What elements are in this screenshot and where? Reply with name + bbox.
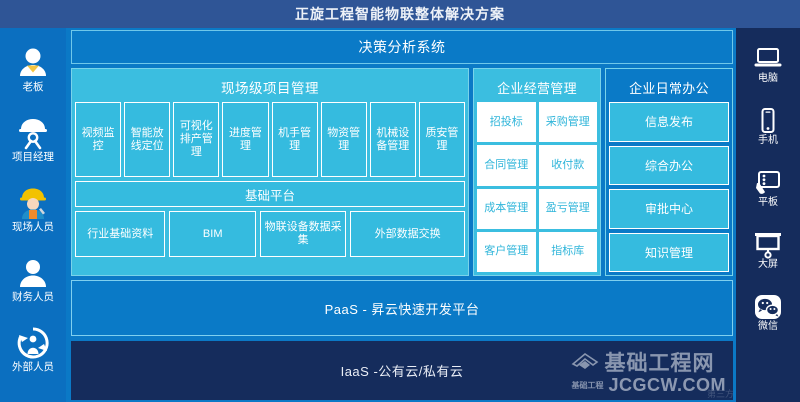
left-user-rail: 老板 项目经理: [0, 28, 66, 402]
field-tile[interactable]: 视频监控: [75, 102, 121, 177]
business-module-cell[interactable]: 指标库: [539, 232, 598, 272]
business-module-grid: 招投标 采购管理 合同管理 收付款 成本管理 盈亏管理 客户管理 指标库: [477, 102, 597, 272]
rail-label-site-worker: 现场人员: [12, 221, 54, 233]
solution-architecture-slide: 正旋工程智能物联整体解决方案 老板 项目: [0, 0, 800, 402]
wechat-icon: [753, 293, 783, 321]
rail-item-big-screen[interactable]: 大屏: [736, 220, 800, 282]
finance-person-icon: [16, 256, 50, 290]
basic-platform-tiles-row: 行业基础资料 BIM 物联设备数据采集 外部数据交换: [75, 211, 465, 257]
office-module-cell[interactable]: 审批中心: [609, 189, 729, 229]
basic-platform-tile[interactable]: 行业基础资料: [75, 211, 165, 257]
office-module-list: 信息发布 综合办公 审批中心 知识管理: [609, 102, 729, 272]
business-module-cell[interactable]: 合同管理: [477, 145, 536, 185]
column-header-business: 企业经营管理: [477, 72, 597, 102]
rail-item-tablet[interactable]: 平板: [736, 158, 800, 220]
office-module-cell[interactable]: 信息发布: [609, 102, 729, 142]
business-module-cell[interactable]: 盈亏管理: [539, 189, 598, 229]
rail-item-wechat[interactable]: 微信: [736, 282, 800, 344]
architecture-main-panel: 决策分析系统 现场级项目管理 视频监控 智能放线定位 可视化排产管理 进度管理 …: [71, 30, 733, 400]
column-header-field: 现场级项目管理: [75, 72, 465, 102]
architecture-columns: 现场级项目管理 视频监控 智能放线定位 可视化排产管理 进度管理 机手管理 物资…: [71, 68, 733, 276]
field-tile[interactable]: 可视化排产管理: [173, 102, 219, 177]
field-tile[interactable]: 机械设备管理: [370, 102, 416, 177]
page-title: 正旋工程智能物联整体解决方案: [295, 4, 505, 24]
business-module-cell[interactable]: 采购管理: [539, 102, 598, 142]
basic-platform-tile[interactable]: 外部数据交换: [350, 211, 465, 257]
tablet-touch-icon: [753, 169, 783, 197]
external-person-cycle-icon: [16, 326, 50, 360]
business-module-cell[interactable]: 客户管理: [477, 232, 536, 272]
rail-item-project-manager[interactable]: 项目经理: [0, 104, 66, 174]
column-enterprise-business-management: 企业经营管理 招投标 采购管理 合同管理 收付款 成本管理 盈亏管理 客户管理 …: [473, 68, 601, 276]
field-tile[interactable]: 质安管理: [419, 102, 465, 177]
rail-label-boss: 老板: [23, 81, 44, 93]
rail-item-site-worker[interactable]: 现场人员: [0, 174, 66, 244]
right-device-rail: 电脑 手机 平板: [736, 28, 800, 402]
field-tile[interactable]: 物资管理: [321, 102, 367, 177]
basic-platform-tile[interactable]: 物联设备数据采集: [260, 211, 346, 257]
basic-platform-tile[interactable]: BIM: [169, 211, 255, 257]
rail-item-finance[interactable]: 财务人员: [0, 244, 66, 314]
rail-label-external: 外部人员: [12, 361, 54, 373]
decision-analysis-bar[interactable]: 决策分析系统: [71, 30, 733, 64]
basic-platform-band[interactable]: 基础平台: [75, 181, 465, 207]
office-module-cell[interactable]: 知识管理: [609, 233, 729, 273]
rail-label-tablet: 平板: [758, 197, 778, 209]
rail-label-phone: 手机: [758, 135, 778, 147]
rail-item-boss[interactable]: 老板: [0, 34, 66, 104]
rail-label-project-manager: 项目经理: [12, 151, 54, 163]
rail-label-finance: 财务人员: [12, 291, 54, 303]
laptop-icon: [753, 45, 783, 73]
field-tile[interactable]: 机手管理: [272, 102, 318, 177]
top-banner: 正旋工程智能物联整体解决方案: [0, 0, 800, 28]
business-module-cell[interactable]: 招投标: [477, 102, 536, 142]
boss-avatar-icon: [16, 46, 50, 80]
rail-label-wechat: 微信: [758, 321, 778, 333]
business-module-cell[interactable]: 收付款: [539, 145, 598, 185]
column-field-project-management: 现场级项目管理 视频监控 智能放线定位 可视化排产管理 进度管理 机手管理 物资…: [71, 68, 469, 276]
rail-item-phone[interactable]: 手机: [736, 96, 800, 158]
rail-item-computer[interactable]: 电脑: [736, 34, 800, 96]
field-tiles-row: 视频监控 智能放线定位 可视化排产管理 进度管理 机手管理 物资管理 机械设备管…: [75, 102, 465, 177]
project-manager-helmet-icon: [16, 116, 50, 150]
rail-item-external[interactable]: 外部人员: [0, 314, 66, 384]
business-module-cell[interactable]: 成本管理: [477, 189, 536, 229]
field-tile[interactable]: 进度管理: [222, 102, 268, 177]
big-screen-icon: [753, 231, 783, 259]
rail-label-computer: 电脑: [758, 73, 778, 85]
field-tile[interactable]: 智能放线定位: [124, 102, 170, 177]
column-header-office: 企业日常办公: [609, 72, 729, 102]
site-worker-icon: [16, 186, 50, 220]
paas-layer-bar[interactable]: PaaS - 昇云快速开发平台: [71, 280, 733, 336]
office-module-cell[interactable]: 综合办公: [609, 146, 729, 186]
rail-label-big-screen: 大屏: [758, 259, 778, 271]
column-enterprise-daily-office: 企业日常办公 信息发布 综合办公 审批中心 知识管理: [605, 68, 733, 276]
smartphone-icon: [753, 107, 783, 135]
iaas-layer-bar[interactable]: IaaS -公有云/私有云: [71, 341, 733, 400]
